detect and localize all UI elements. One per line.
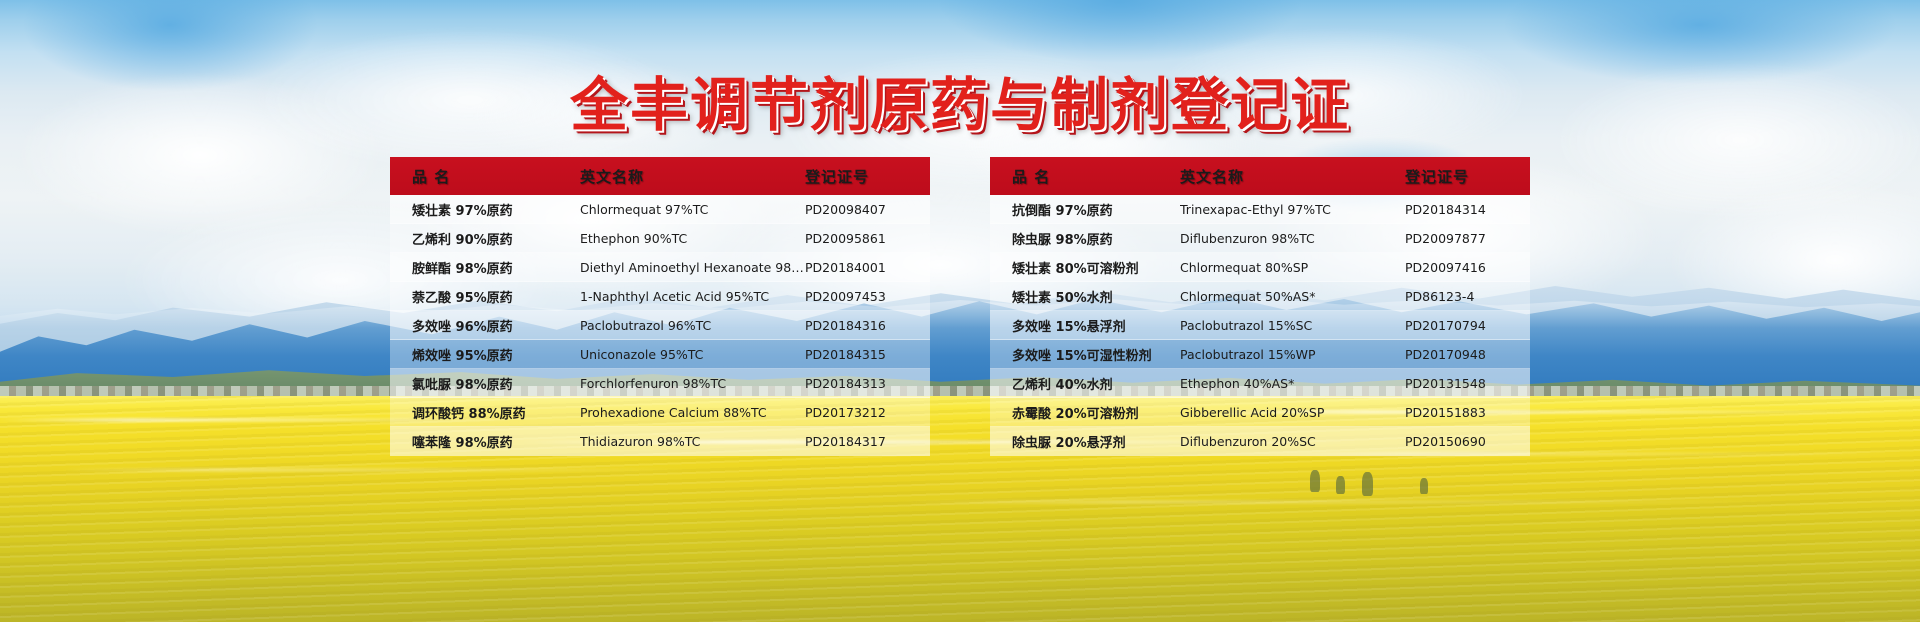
cell-english-name: Gibberellic Acid 20%SP [1180, 405, 1405, 420]
table-row: 多效唑 96%原药 Paclobutrazol 96%TC PD20184316 [390, 311, 930, 340]
cell-registration-no: PD20098407 [805, 202, 930, 217]
table-row: 噻苯隆 98%原药 Thidiazuron 98%TC PD20184317 [390, 427, 930, 456]
cell-english-name: Trinexapac-Ethyl 97%TC [1180, 202, 1405, 217]
cell-registration-no: PD20184001 [805, 260, 930, 275]
field-streak [60, 468, 700, 472]
cell-registration-no: PD20184313 [805, 376, 930, 391]
column-header-product-name: 品 名 [990, 166, 1180, 187]
cell-registration-no: PD20150690 [1405, 434, 1530, 449]
left-table-header-row: 品 名 英文名称 登记证号 [390, 157, 930, 195]
cell-product-name: 多效唑 15%可湿性粉剂 [990, 345, 1180, 364]
right-table: 品 名 英文名称 登记证号 抗倒酯 97%原药 Trinexapac-Ethyl… [990, 157, 1530, 457]
table-row: 胺鲜酯 98%原药 Diethyl Aminoethyl Hexanoate 9… [390, 253, 930, 282]
cell-product-name: 矮壮素 50%水剂 [990, 287, 1180, 306]
cell-product-name: 萘乙酸 95%原药 [390, 287, 580, 306]
tree [1362, 472, 1373, 496]
cell-english-name: Thidiazuron 98%TC [580, 434, 805, 449]
cell-registration-no: PD20184317 [805, 434, 930, 449]
column-header-english-name: 英文名称 [1180, 166, 1405, 187]
cell-product-name: 调环酸钙 88%原药 [390, 403, 580, 422]
column-header-english-name: 英文名称 [580, 166, 805, 187]
cell-product-name: 烯效唑 95%原药 [390, 345, 580, 364]
cell-product-name: 矮壮素 97%原药 [390, 200, 580, 219]
cell-registration-no: PD20170794 [1405, 318, 1530, 333]
cell-english-name: Diflubenzuron 98%TC [1180, 231, 1405, 246]
table-row: 乙烯利 40%水剂 Ethephon 40%AS* PD20131548 [990, 369, 1530, 398]
cell-english-name: Ethephon 40%AS* [1180, 376, 1405, 391]
table-row: 多效唑 15%悬浮剂 Paclobutrazol 15%SC PD2017079… [990, 311, 1530, 340]
cell-registration-no: PD20151883 [1405, 405, 1530, 420]
cell-english-name: Chlormequat 97%TC [580, 202, 805, 217]
registration-tables: 品 名 英文名称 登记证号 矮壮素 97%原药 Chlormequat 97%T… [0, 157, 1920, 457]
cell-english-name: 1-Naphthyl Acetic Acid 95%TC [580, 289, 805, 304]
cell-registration-no: PD20131548 [1405, 376, 1530, 391]
cell-product-name: 矮壮素 80%可溶粉剂 [990, 258, 1180, 277]
cell-english-name: Paclobutrazol 15%WP [1180, 347, 1405, 362]
column-header-registration-no: 登记证号 [805, 166, 930, 187]
column-header-registration-no: 登记证号 [1405, 166, 1530, 187]
cell-english-name: Diethyl Aminoethyl Hexanoate 98%TC [580, 260, 805, 275]
cell-product-name: 除虫脲 98%原药 [990, 229, 1180, 248]
cell-english-name: Chlormequat 50%AS* [1180, 289, 1405, 304]
tree [1420, 478, 1428, 494]
cell-registration-no: PD20184316 [805, 318, 930, 333]
table-row: 萘乙酸 95%原药 1-Naphthyl Acetic Acid 95%TC P… [390, 282, 930, 311]
cell-registration-no: PD86123-4 [1405, 289, 1530, 304]
table-row: 乙烯利 90%原药 Ethephon 90%TC PD20095861 [390, 224, 930, 253]
cell-product-name: 氯吡脲 98%原药 [390, 374, 580, 393]
cell-registration-no: PD20184314 [1405, 202, 1530, 217]
cell-english-name: Uniconazole 95%TC [580, 347, 805, 362]
cell-product-name: 多效唑 96%原药 [390, 316, 580, 335]
cell-english-name: Paclobutrazol 96%TC [580, 318, 805, 333]
cell-product-name: 乙烯利 90%原药 [390, 229, 580, 248]
cell-registration-no: PD20170948 [1405, 347, 1530, 362]
tree [1310, 470, 1320, 492]
cell-registration-no: PD20095861 [805, 231, 930, 246]
cell-product-name: 多效唑 15%悬浮剂 [990, 316, 1180, 335]
cell-registration-no: PD20097416 [1405, 260, 1530, 275]
table-row: 抗倒酯 97%原药 Trinexapac-Ethyl 97%TC PD20184… [990, 195, 1530, 224]
cell-english-name: Forchlorfenuron 98%TC [580, 376, 805, 391]
left-table: 品 名 英文名称 登记证号 矮壮素 97%原药 Chlormequat 97%T… [390, 157, 930, 457]
cell-product-name: 乙烯利 40%水剂 [990, 374, 1180, 393]
cell-product-name: 胺鲜酯 98%原药 [390, 258, 580, 277]
right-table-header-row: 品 名 英文名称 登记证号 [990, 157, 1530, 195]
cell-product-name: 除虫脲 20%悬浮剂 [990, 432, 1180, 451]
cell-registration-no: PD20097877 [1405, 231, 1530, 246]
cell-product-name: 噻苯隆 98%原药 [390, 432, 580, 451]
cell-english-name: Ethephon 90%TC [580, 231, 805, 246]
cell-english-name: Chlormequat 80%SP [1180, 260, 1405, 275]
table-row: 矮壮素 50%水剂 Chlormequat 50%AS* PD86123-4 [990, 282, 1530, 311]
table-row: 除虫脲 98%原药 Diflubenzuron 98%TC PD20097877 [990, 224, 1530, 253]
cell-registration-no: PD20184315 [805, 347, 930, 362]
table-row: 矮壮素 80%可溶粉剂 Chlormequat 80%SP PD20097416 [990, 253, 1530, 282]
cell-english-name: Diflubenzuron 20%SC [1180, 434, 1405, 449]
table-row: 赤霉酸 20%可溶粉剂 Gibberellic Acid 20%SP PD201… [990, 398, 1530, 427]
cell-registration-no: PD20097453 [805, 289, 930, 304]
table-row: 多效唑 15%可湿性粉剂 Paclobutrazol 15%WP PD20170… [990, 340, 1530, 369]
field-streak [900, 500, 1800, 504]
cell-product-name: 抗倒酯 97%原药 [990, 200, 1180, 219]
cell-product-name: 赤霉酸 20%可溶粉剂 [990, 403, 1180, 422]
table-row: 调环酸钙 88%原药 Prohexadione Calcium 88%TC PD… [390, 398, 930, 427]
cell-english-name: Paclobutrazol 15%SC [1180, 318, 1405, 333]
cell-registration-no: PD20173212 [805, 405, 930, 420]
cell-english-name: Prohexadione Calcium 88%TC [580, 405, 805, 420]
column-header-product-name: 品 名 [390, 166, 580, 187]
page-title: 全丰调节剂原药与制剂登记证 [0, 58, 1920, 142]
table-row: 矮壮素 97%原药 Chlormequat 97%TC PD20098407 [390, 195, 930, 224]
table-row: 烯效唑 95%原药 Uniconazole 95%TC PD20184315 [390, 340, 930, 369]
tree [1336, 476, 1345, 494]
table-row: 除虫脲 20%悬浮剂 Diflubenzuron 20%SC PD2015069… [990, 427, 1530, 456]
table-row: 氯吡脲 98%原药 Forchlorfenuron 98%TC PD201843… [390, 369, 930, 398]
